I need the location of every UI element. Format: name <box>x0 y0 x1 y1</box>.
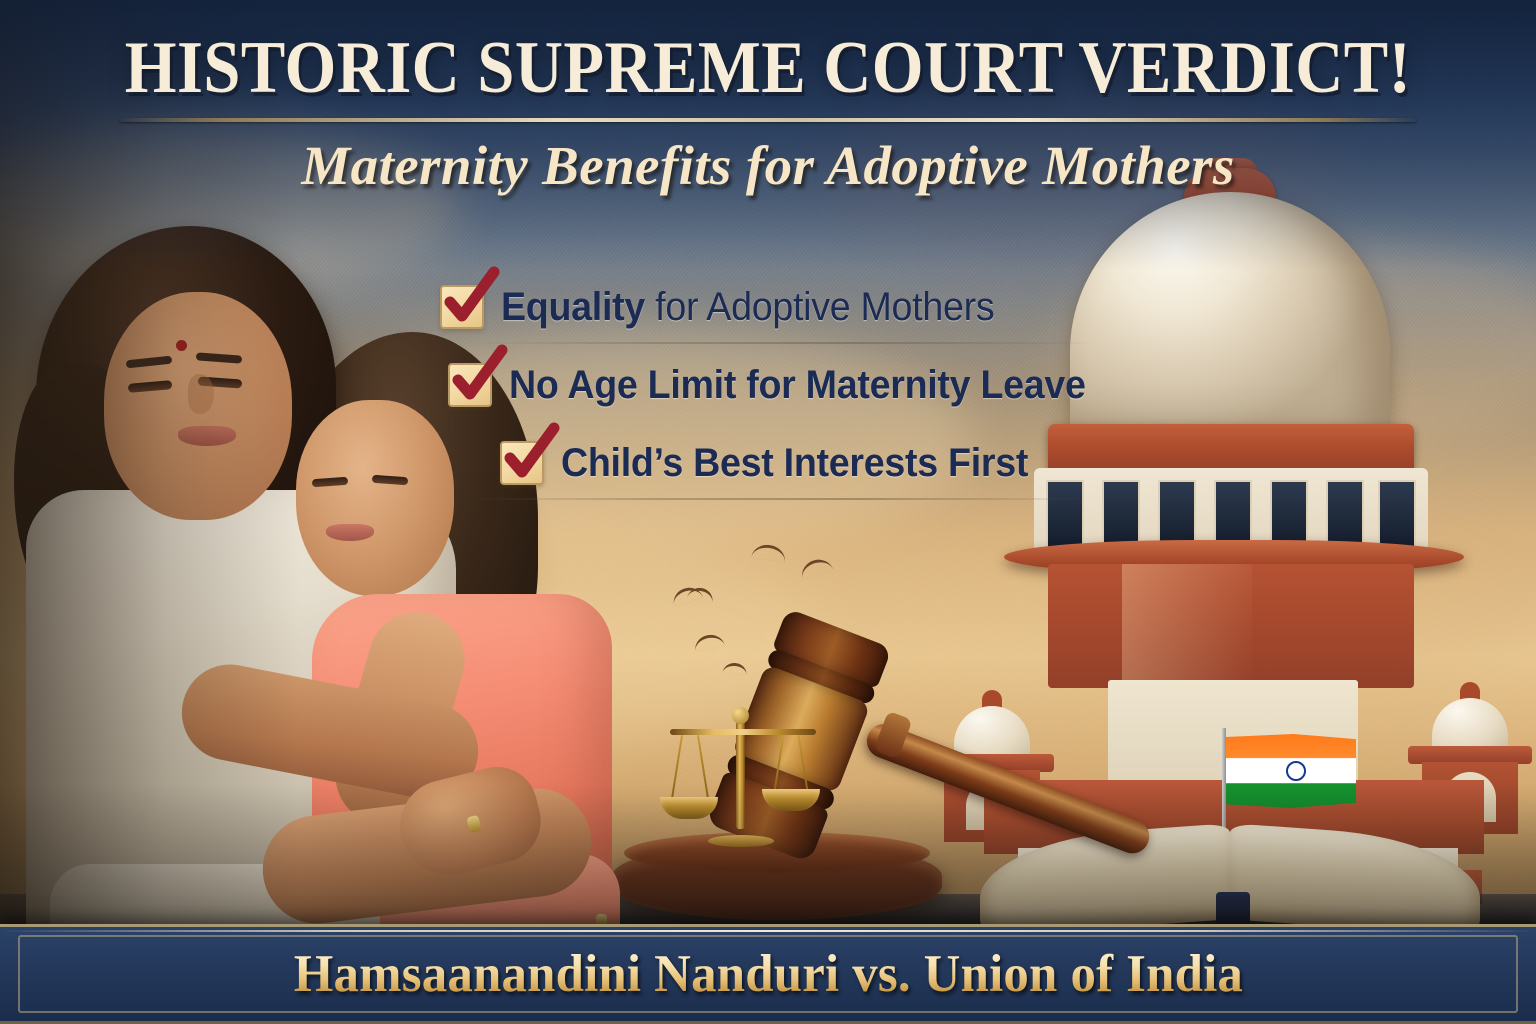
ashoka-chakra-icon <box>1286 761 1306 781</box>
bird-icon <box>723 663 747 674</box>
case-title-band: Hamsaanandini Nanduri vs. Union of India <box>0 924 1536 1024</box>
bird-icon <box>688 588 714 601</box>
list-item-label: Equality for Adoptive Mothers <box>501 285 994 330</box>
list-item-lead: Child’s Best Interests First <box>561 441 1028 485</box>
list-item-label: No Age Limit for Maternity Leave <box>509 363 1086 408</box>
list-item: Child’s Best Interests First <box>440 424 1100 502</box>
list-item-rest: for Adoptive Mothers <box>645 285 994 329</box>
checkbox-checked-icon <box>500 441 544 485</box>
list-item: No Age Limit for Maternity Leave <box>440 346 1100 424</box>
case-title: Hamsaanandini Nanduri vs. Union of India <box>293 944 1242 1004</box>
list-separator <box>470 342 1094 344</box>
bird-icon <box>694 635 724 649</box>
checkbox-checked-icon <box>440 285 484 329</box>
list-item: Equality for Adoptive Mothers <box>440 268 1100 346</box>
page-title: HISTORIC SUPREME COURT VERDICT! <box>77 26 1459 111</box>
gold-divider <box>120 118 1416 122</box>
verdict-poster: HISTORIC SUPREME COURT VERDICT! Maternit… <box>0 0 1536 1024</box>
list-item-lead: Equality <box>501 285 645 329</box>
list-item-label: Child’s Best Interests First <box>561 441 1028 486</box>
checkbox-checked-icon <box>448 363 492 407</box>
page-subtitle: Maternity Benefits for Adoptive Mothers <box>0 134 1536 197</box>
list-item-lead: No Age Limit for Maternity Leave <box>509 363 1086 407</box>
child-face <box>296 400 454 596</box>
bird-icon <box>752 545 786 560</box>
bird-icon <box>800 560 832 575</box>
benefits-list: Equality for Adoptive Mothers No Age Lim… <box>440 268 1100 502</box>
